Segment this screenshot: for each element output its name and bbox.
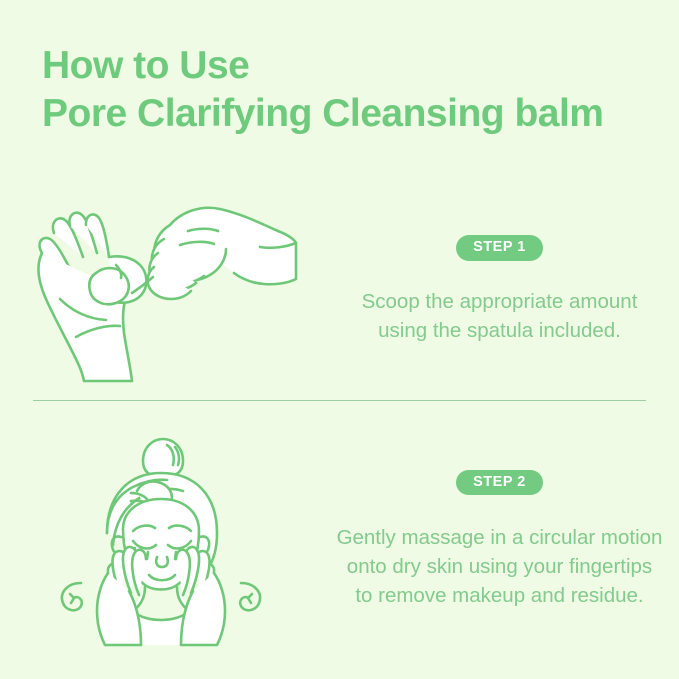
section-divider — [33, 400, 646, 401]
hands-scooping-balm-with-spatula-icon — [20, 195, 300, 385]
step-2-description: Gently massage in a circular motion onto… — [337, 523, 663, 610]
step-1-badge: STEP 1 — [456, 235, 543, 261]
page-title: How to Use Pore Clarifying Cleansing bal… — [42, 42, 642, 138]
step-1-section: STEP 1 Scoop the appropriate amount usin… — [0, 190, 679, 390]
step-1-illustration — [0, 195, 320, 385]
step-2-description-line-3: to remove makeup and residue. — [337, 581, 663, 610]
swirl-right-arrow-icon — [248, 594, 252, 603]
step-2-section: STEP 2 Gently massage in a circular moti… — [0, 425, 679, 655]
step-1-description-line-1: Scoop the appropriate amount — [362, 287, 638, 316]
page-title-line-2: Pore Clarifying Cleansing balm — [42, 90, 642, 138]
step-2-description-line-1: Gently massage in a circular motion — [337, 523, 663, 552]
step-1-description-line-2: using the spatula included. — [362, 316, 638, 345]
swirl-left-arrow-icon — [70, 594, 74, 603]
step-2-badge: STEP 2 — [456, 470, 543, 496]
step-1-body: STEP 1 Scoop the appropriate amount usin… — [320, 235, 679, 345]
step-1-description: Scoop the appropriate amount using the s… — [362, 287, 638, 345]
woman-massaging-face-icon — [45, 433, 275, 648]
step-2-illustration — [0, 428, 320, 653]
page-title-line-1: How to Use — [42, 42, 642, 90]
how-to-use-infographic: How to Use Pore Clarifying Cleansing bal… — [0, 0, 679, 679]
step-2-description-line-2: onto dry skin using your fingertips — [337, 552, 663, 581]
step-2-body: STEP 2 Gently massage in a circular moti… — [320, 470, 679, 611]
